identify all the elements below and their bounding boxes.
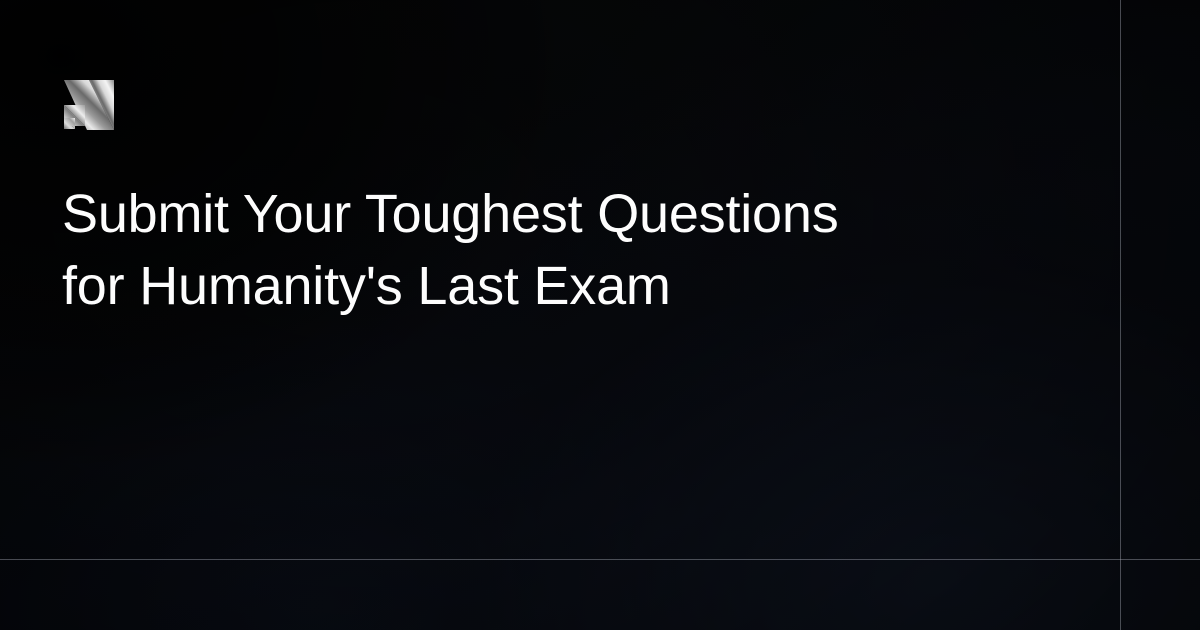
- grid-line-vertical: [1120, 0, 1121, 630]
- grid-line-horizontal: [0, 559, 1200, 560]
- page-title: Submit Your Toughest Questions for Human…: [62, 178, 1042, 322]
- brand-logo: [64, 80, 114, 130]
- og-preview-card: Submit Your Toughest Questions for Human…: [0, 0, 1200, 630]
- nested-triangles-logo-icon: [64, 80, 114, 130]
